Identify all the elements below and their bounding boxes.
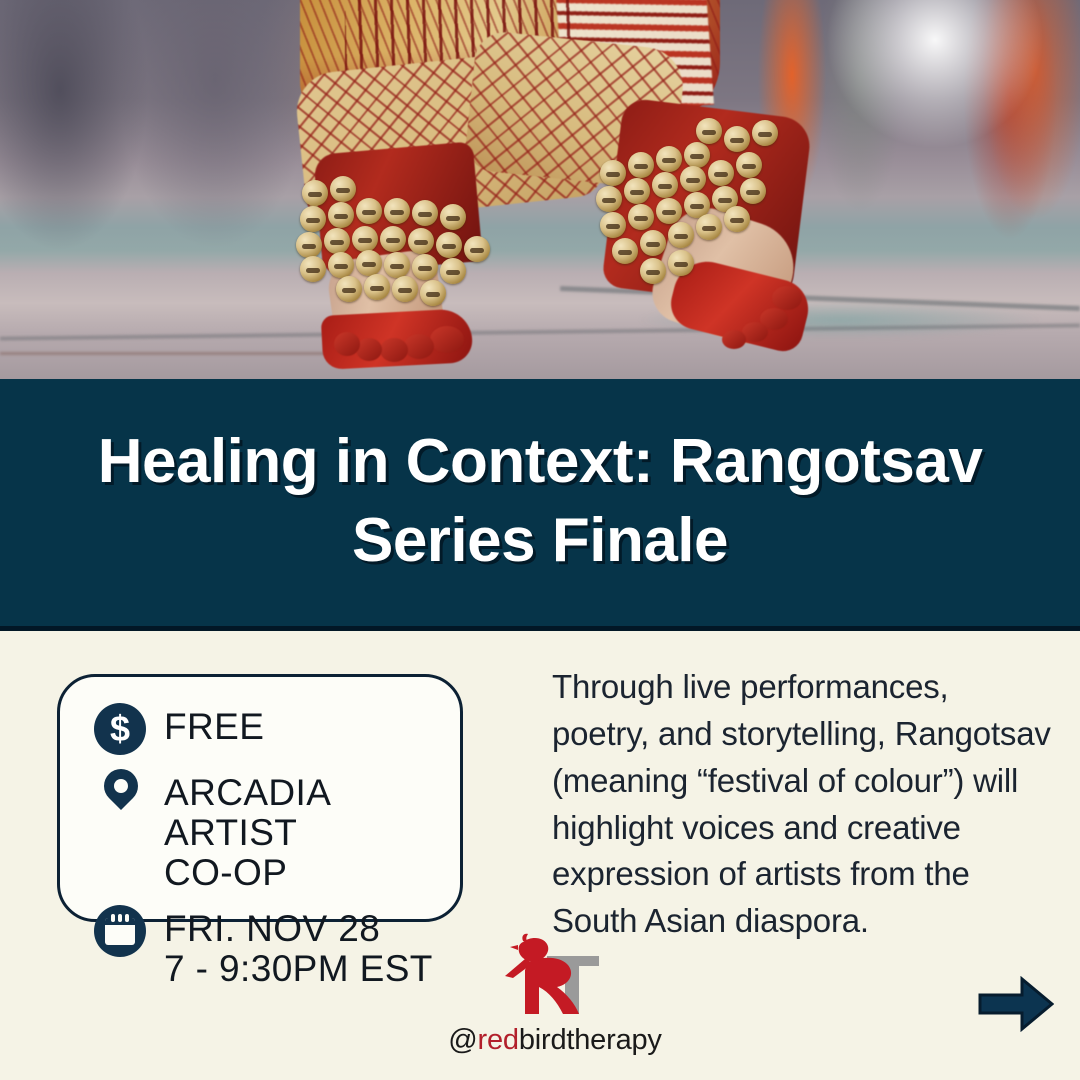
event-poster: Healing in Context: Rangotsav Series Fin…: [0, 0, 1080, 1080]
handle-at: @: [448, 1024, 477, 1056]
event-info-card: $ FREE ARCADIA ARTIST CO-OP: [57, 674, 463, 922]
poster-title-line-2: Series Finale: [352, 501, 728, 580]
dancer-toe: [404, 334, 434, 359]
dancer-toe: [380, 338, 408, 362]
handle-highlight: red: [478, 1024, 519, 1056]
brand-block: @redbirdtherapy: [430, 932, 680, 1057]
arrow-right-icon[interactable]: [978, 976, 1054, 1032]
dancer-toe: [430, 326, 464, 353]
poster-title-line-1: Healing in Context: Rangotsav: [98, 422, 983, 501]
details-section: $ FREE ARCADIA ARTIST CO-OP: [0, 636, 1080, 1080]
dollar-icon-glyph: $: [94, 703, 146, 755]
redbird-therapy-logo-icon: [495, 932, 615, 1018]
handle-rest: birdtherapy: [519, 1024, 662, 1056]
location-pin-icon: [94, 769, 148, 823]
hero-photo: [0, 0, 1080, 379]
calendar-icon-glyph: [94, 905, 146, 957]
event-datetime: FRI. NOV 28 7 - 9:30PM EST: [164, 905, 433, 989]
event-description: Through live performances, poetry, and s…: [552, 664, 1052, 945]
title-banner: Healing in Context: Rangotsav Series Fin…: [0, 379, 1080, 631]
event-venue: ARCADIA ARTIST CO-OP: [164, 769, 460, 893]
dollar-icon: $: [94, 703, 148, 757]
event-price: FREE: [164, 703, 264, 747]
dancer-toe: [356, 338, 382, 361]
info-row-price: $ FREE: [94, 703, 460, 757]
location-pin-icon-glyph: [97, 762, 145, 810]
info-row-datetime: FRI. NOV 28 7 - 9:30PM EST: [94, 905, 460, 989]
dancer-toe: [722, 330, 746, 349]
calendar-icon: [94, 905, 148, 959]
social-handle: @redbirdtherapy: [430, 1024, 680, 1057]
dancer-toe: [334, 332, 360, 356]
dancer-toe: [772, 286, 802, 310]
info-row-venue: ARCADIA ARTIST CO-OP: [94, 769, 460, 893]
